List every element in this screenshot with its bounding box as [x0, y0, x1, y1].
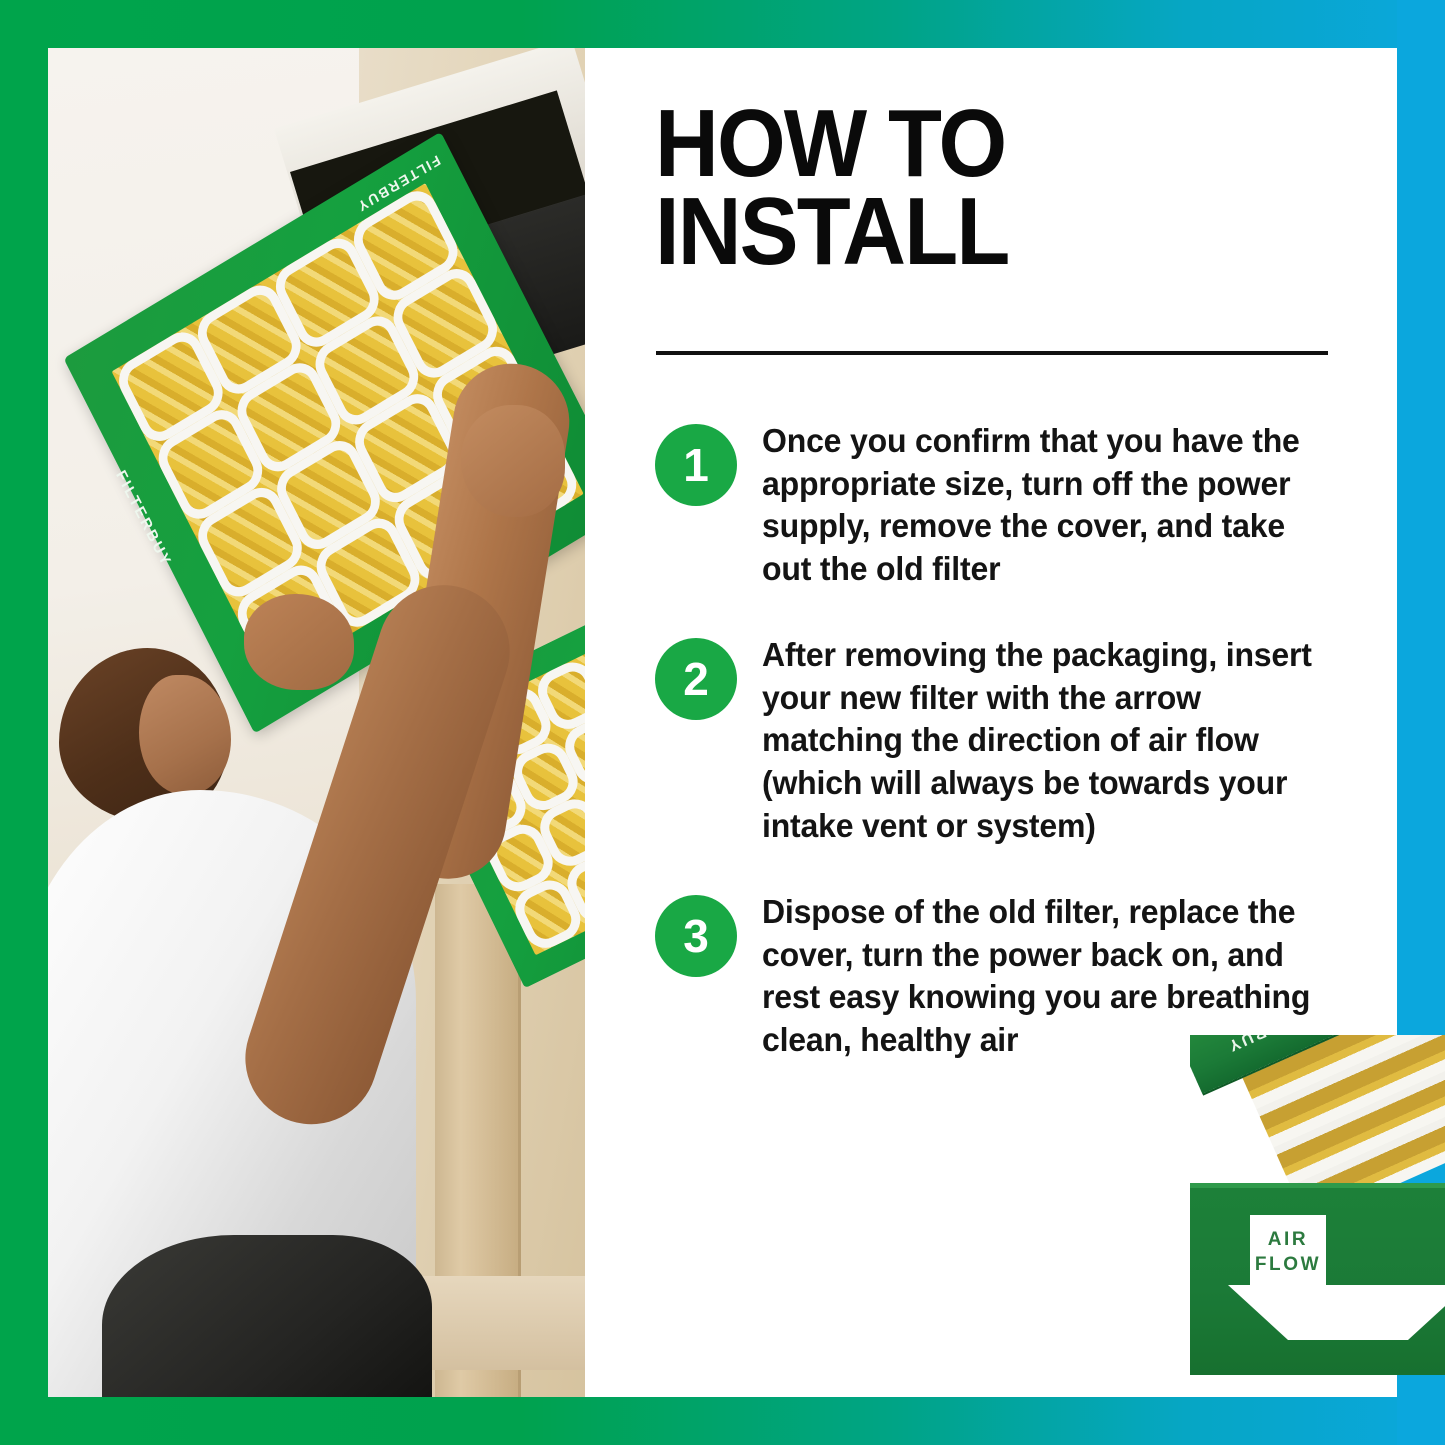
step-number-badge-2: 2 — [655, 638, 737, 720]
step-number-badge-1: 1 — [655, 424, 737, 506]
step-text-2: After removing the packaging, insert you… — [762, 634, 1337, 847]
product-filter-face-edge — [1190, 1183, 1445, 1188]
photo-person-near-hand — [244, 594, 354, 690]
air-flow-label-line-2: FLOW — [1228, 1252, 1348, 1277]
page-title: HOW TO INSTALL — [655, 100, 1299, 277]
border-left-green — [0, 0, 48, 1445]
step-item-1: 1 Once you confirm that you have the app… — [655, 420, 1355, 590]
product-filter-front-face: AIR FLOW — [1190, 1183, 1445, 1375]
page-title-line-1: HOW TO — [655, 100, 1299, 188]
air-flow-label: AIR FLOW — [1228, 1227, 1348, 1277]
border-bottom-gradient — [0, 1397, 1445, 1445]
title-divider — [656, 351, 1328, 355]
product-filter-image: FILTERBUY AIR FLOW — [1190, 1035, 1445, 1375]
step-text-1: Once you confirm that you have the appro… — [762, 420, 1337, 590]
photo-person-far-hand — [461, 405, 565, 517]
step-number-badge-3: 3 — [655, 895, 737, 977]
border-top-gradient — [0, 0, 1445, 48]
page-title-line-2: INSTALL — [655, 188, 1299, 276]
steps-list: 1 Once you confirm that you have the app… — [655, 420, 1355, 1105]
photo-person-pants — [102, 1235, 432, 1397]
installation-photo: FILTERBUY FILTERBUY — [48, 48, 585, 1397]
air-flow-arrow-icon: AIR FLOW — [1228, 1215, 1348, 1340]
step-item-2: 2 After removing the packaging, insert y… — [655, 634, 1355, 847]
infographic-canvas: FILTERBUY FILTERBUY — [0, 0, 1445, 1445]
air-flow-arrow-head — [1228, 1285, 1445, 1340]
air-flow-label-line-1: AIR — [1228, 1227, 1348, 1252]
